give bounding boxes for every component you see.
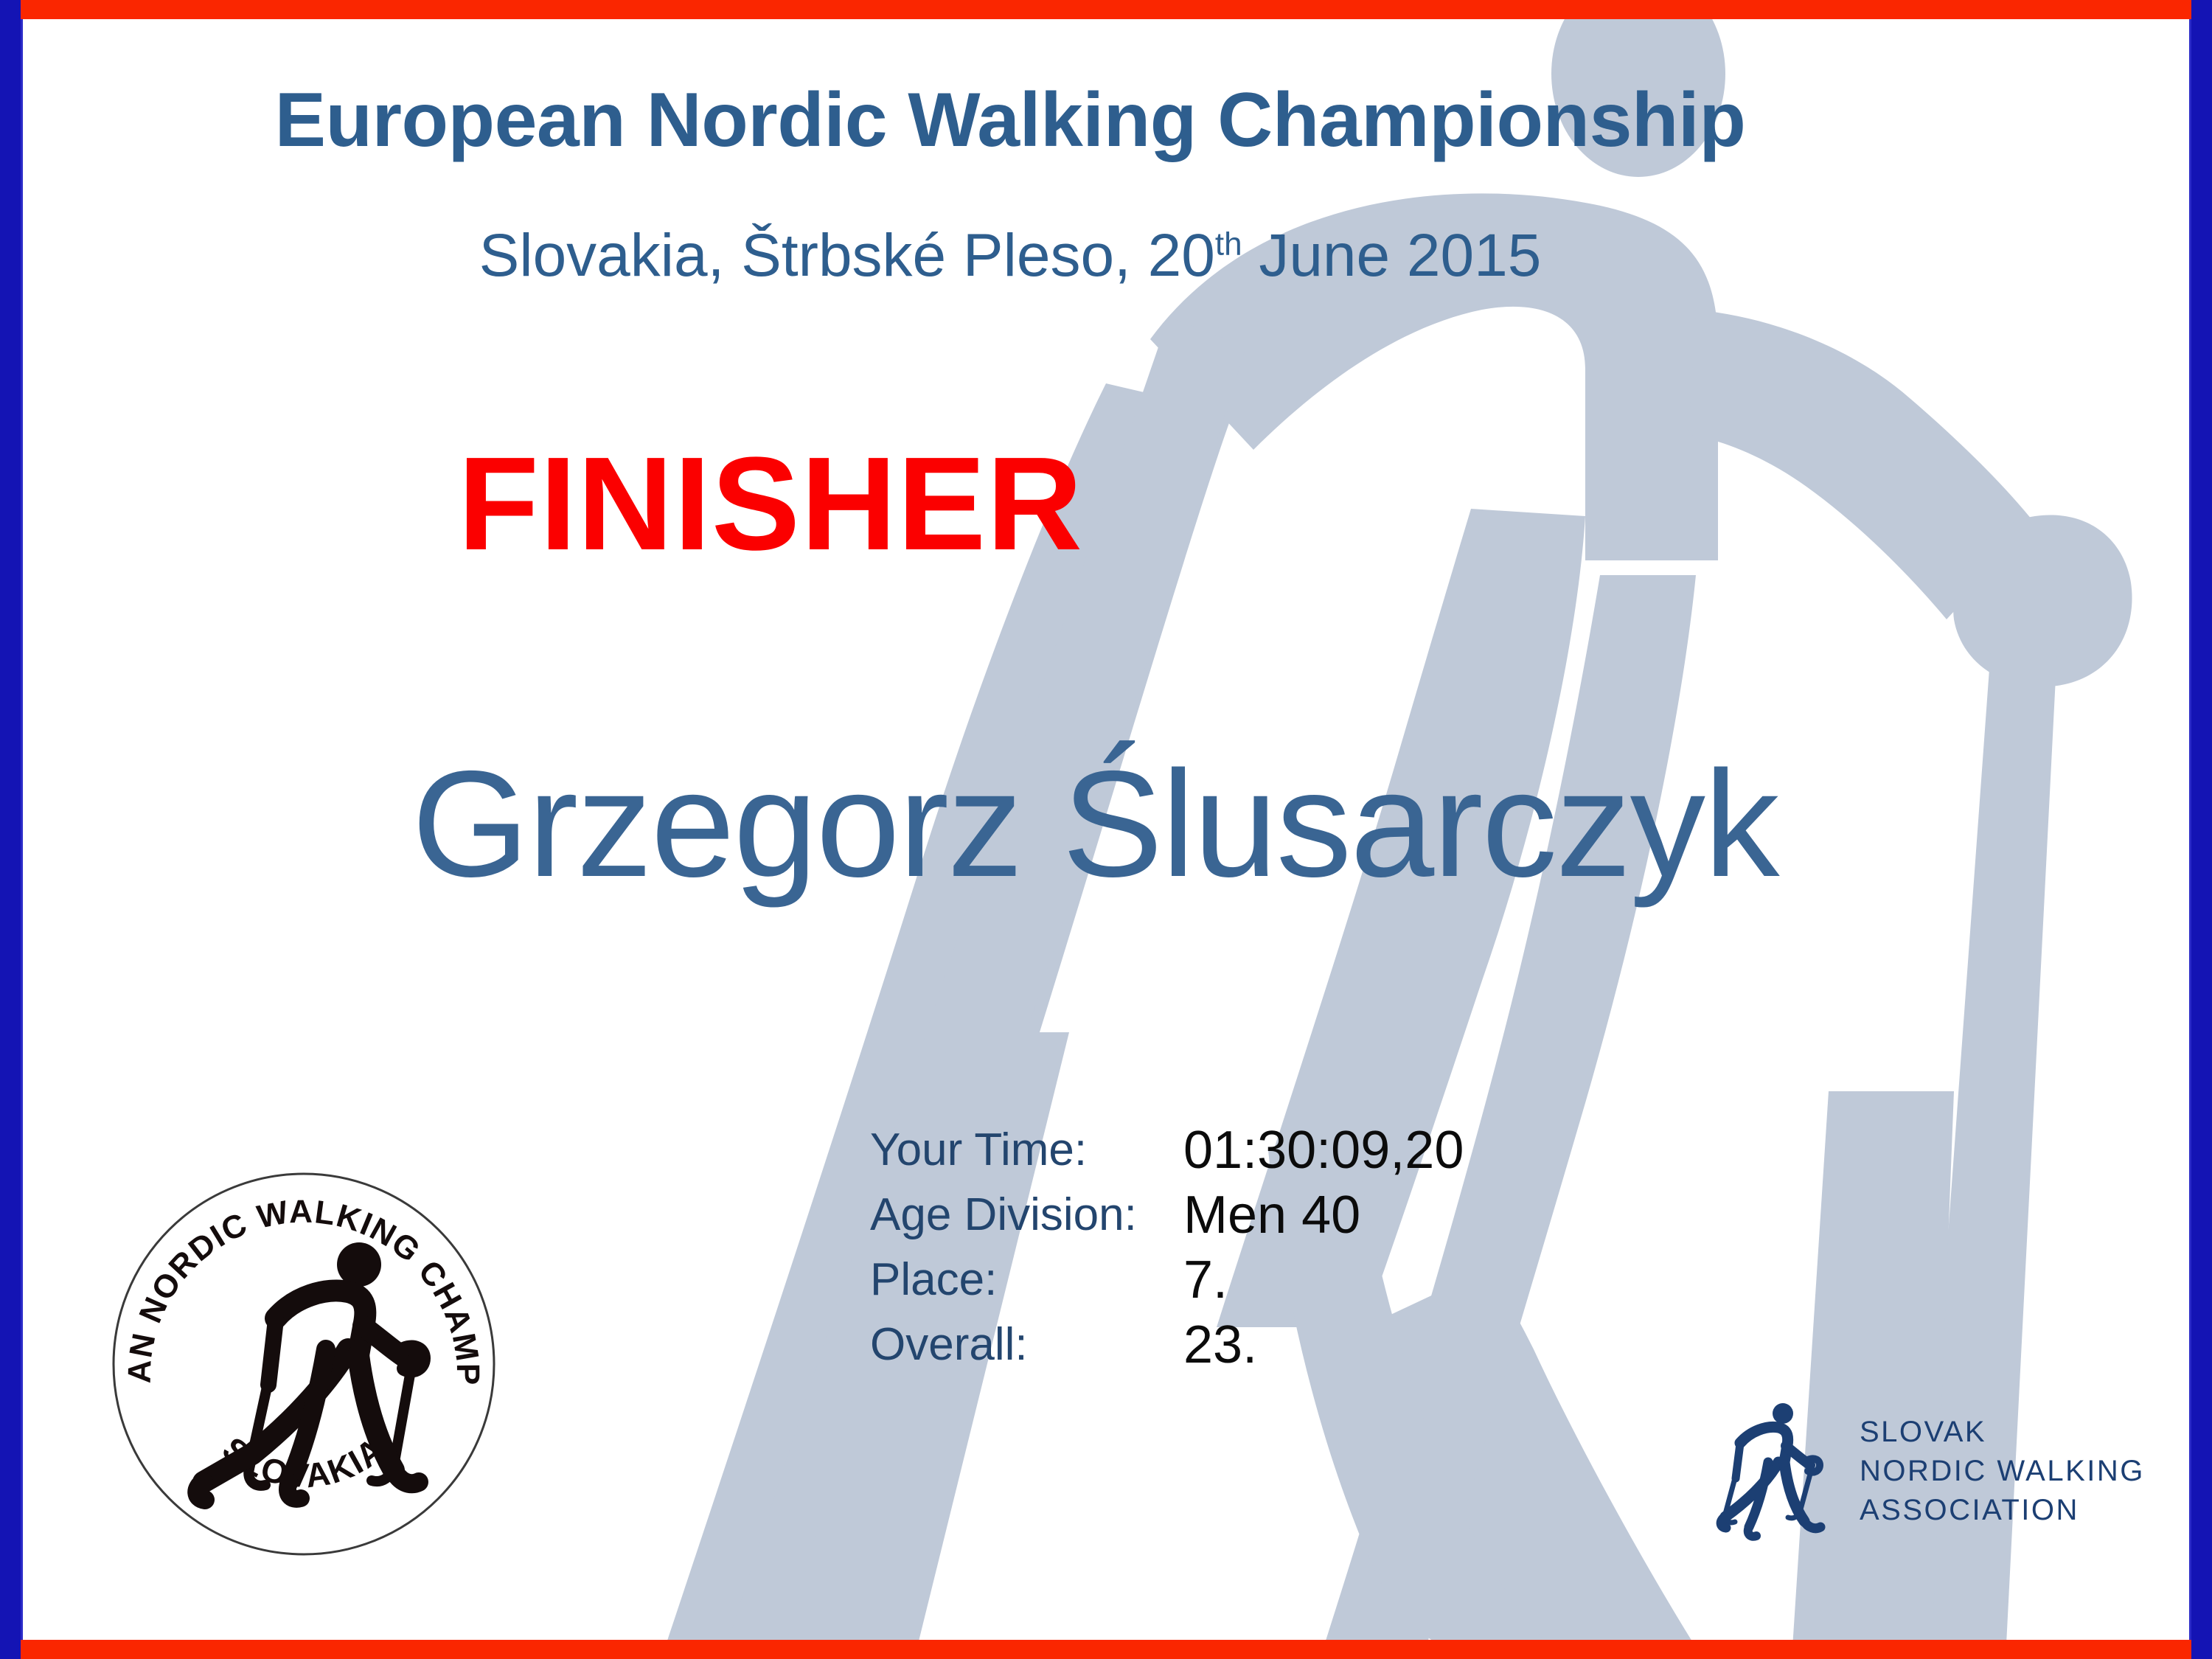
snwa-line-2: NORDIC WALKING <box>1860 1455 2145 1488</box>
result-label-your-time: Your Time: <box>870 1118 1183 1183</box>
subtitle-ordinal-suffix: th <box>1215 226 1242 262</box>
border-bar-bottom <box>0 1640 2212 1659</box>
subtitle-prefix: Slovakia, Štrbské Pleso, 20 <box>479 222 1215 289</box>
event-subtitle: Slovakia, Štrbské Pleso, 20th June 2015 <box>0 221 2212 291</box>
athlete-name: Grzegorz Ślusarczyk <box>0 737 2212 911</box>
nordic-walker-icon <box>1696 1397 1836 1545</box>
snwa-line-3: ASSOCIATION <box>1860 1494 2145 1527</box>
result-value-age-division: Men 40 <box>1183 1183 1464 1248</box>
result-value-place: 7. <box>1183 1248 1464 1312</box>
result-value-overall: 23. <box>1183 1312 1464 1377</box>
result-label-place: Place: <box>870 1248 1183 1312</box>
border-bar-right <box>2191 0 2212 1659</box>
enwc-championship-logo: EUROPEAN NORDIC WALKING CHAMPIONSHIP SLO… <box>105 1165 503 1563</box>
border-bar-left <box>0 0 21 1659</box>
page-title: European Nordic Walking Championship <box>0 77 2212 164</box>
results-block: Your Time: 01:30:09,20 Age Division: Men… <box>870 1118 1464 1377</box>
snwa-logo-text: SLOVAK NORDIC WALKING ASSOCIATION <box>1860 1416 2145 1527</box>
result-value-your-time: 01:30:09,20 <box>1183 1118 1464 1183</box>
snwa-association-logo: SLOVAK NORDIC WALKING ASSOCIATION <box>1696 1386 2138 1556</box>
certificate-card: European Nordic Walking Championship Slo… <box>0 0 2212 1659</box>
subtitle-rest: June 2015 <box>1242 222 1542 289</box>
result-label-age-division: Age Division: <box>870 1183 1183 1248</box>
snwa-line-1: SLOVAK <box>1860 1416 2145 1449</box>
border-bar-top <box>0 0 2212 19</box>
status-badge: FINISHER <box>0 428 2212 580</box>
result-label-overall: Overall: <box>870 1312 1183 1377</box>
